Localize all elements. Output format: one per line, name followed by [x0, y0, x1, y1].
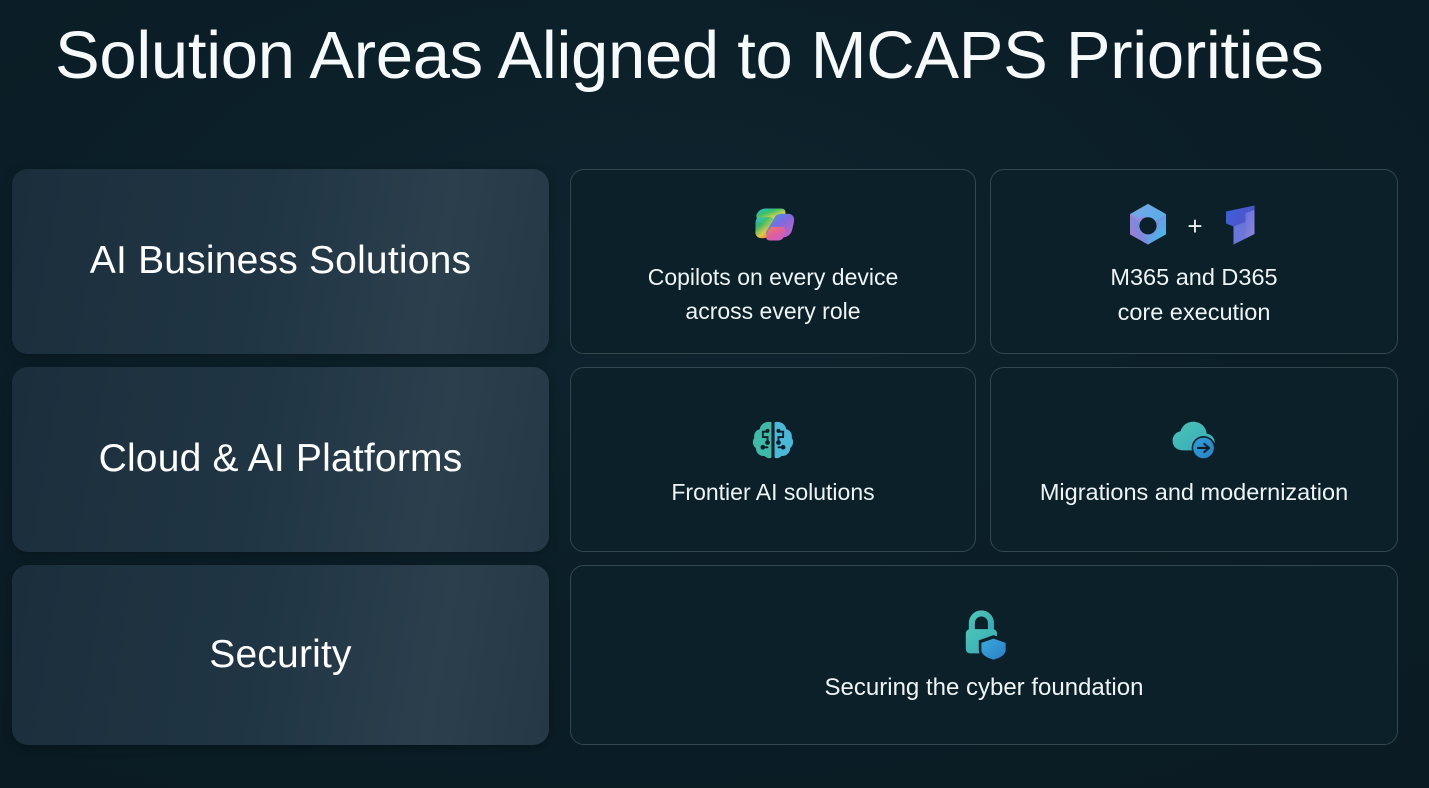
solution-areas-grid: AI Business Solutions: [0, 169, 1429, 749]
cloud-migration-arrow-icon: [1167, 409, 1221, 471]
detail-card-label: Securing the cyber foundation: [811, 671, 1158, 706]
detail-card-securing-cyber-foundation[interactable]: Securing the cyber foundation: [570, 565, 1398, 745]
row-cloud-ai-platforms: Cloud & AI Platforms: [0, 367, 1429, 552]
detail-card-migrations[interactable]: Migrations and modernization: [990, 367, 1398, 552]
m365-icon: [1123, 200, 1173, 250]
row-ai-business-solutions: AI Business Solutions: [0, 169, 1429, 354]
plus-icon: +: [1187, 213, 1202, 239]
category-label: AI Business Solutions: [90, 240, 471, 283]
slide-canvas: Solution Areas Aligned to MCAPS Prioriti…: [0, 0, 1429, 788]
brain-circuit-icon: [748, 410, 798, 472]
row-security: Security: [0, 565, 1429, 745]
category-card-ai-business-solutions[interactable]: AI Business Solutions: [12, 169, 549, 354]
copilot-icon: [745, 195, 801, 257]
detail-card-label: Frontier AI solutions: [657, 476, 888, 509]
detail-card-label: Migrations and modernization: [1026, 475, 1362, 509]
lock-shield-icon: [958, 605, 1010, 667]
m365-plus-d365-icon-group: +: [1123, 194, 1264, 256]
category-card-cloud-ai-platforms[interactable]: Cloud & AI Platforms: [12, 367, 549, 552]
category-card-security[interactable]: Security: [12, 565, 549, 745]
detail-card-copilots[interactable]: Copilots on every device across every ro…: [570, 169, 976, 354]
detail-card-frontier-ai[interactable]: Frontier AI solutions: [570, 367, 976, 552]
category-label: Security: [209, 634, 351, 677]
detail-card-label: Copilots on every device across every ro…: [634, 261, 913, 328]
page-title: Solution Areas Aligned to MCAPS Prioriti…: [55, 22, 1395, 89]
detail-card-label: M365 and D365 core execution: [1096, 260, 1291, 328]
category-label: Cloud & AI Platforms: [99, 438, 463, 481]
detail-card-m365-d365[interactable]: +: [990, 169, 1398, 354]
d365-icon: [1217, 201, 1265, 249]
